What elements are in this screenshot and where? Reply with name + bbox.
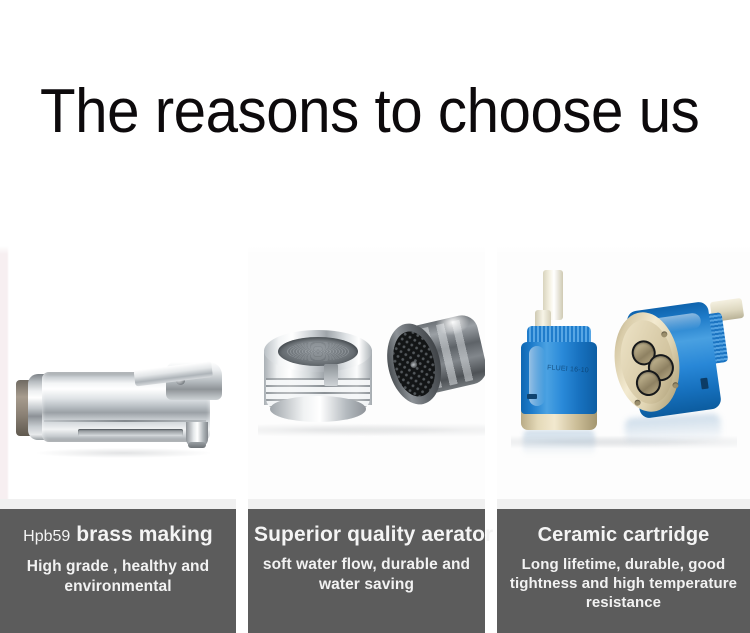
page-title: The reasons to choose us [40,76,698,148]
feature-image-ceramic-cartridge: FLUEI 16-10 [497,246,750,499]
aerator-housing-notch [324,364,338,386]
faucet-illustration [16,358,226,450]
cartridge-screw-hole-3 [634,399,641,406]
cartridge-upright-illustration: FLUEI 16-10 [517,270,599,430]
cartridge-tilted-reflection [624,414,721,447]
cartridge-tilted-illustration [615,294,743,434]
faucet-seam-line [44,420,206,422]
feature-card-brass-making: Hpb59 brass making High grade , healthy … [0,246,236,633]
cartridge-face-disc [615,317,678,407]
cartridge-upright-reflection [523,430,595,456]
feature-caption-ceramic-cartridge: Ceramic cartridge Long lifetime, durable… [497,509,750,633]
feature-caption-brass-making: Hpb59 brass making High grade , healthy … [0,509,236,633]
aerator-housing-illustration [264,330,372,426]
feature-subtitle-brass-making: High grade , healthy and environmental [6,557,230,597]
feature-subtitle-ceramic-cartridge: Long lifetime, durable, good tightness a… [503,555,744,612]
photo-top-fade [248,246,485,254]
feature-image-brass-making [0,246,236,499]
feature-card-aerator: Superior quality aerator soft water flow… [248,246,485,633]
feature-title-aerator: Superior quality aerator [254,522,479,548]
faucet-recessed-slot [78,429,183,436]
panel-divider-strip [248,499,485,509]
feature-title-ceramic-cartridge: Ceramic cartridge [503,522,744,548]
product-feature-banner: The reasons to choose us [0,0,750,633]
feature-card-ceramic-cartridge: FLUEI 16-10 [497,246,750,633]
aerator-housing-bore [278,337,358,366]
cartridge-screw-hole-1 [661,331,668,338]
feature-image-aerator [248,246,485,499]
feature-caption-aerator: Superior quality aerator soft water flow… [248,509,485,633]
feature-title-brass-making: Hpb59 brass making [6,522,230,550]
cartridge-upright-port [527,394,537,399]
photo-top-fade [497,246,750,254]
aerator-housing-bottom [270,396,366,422]
faucet-shadow [36,448,211,458]
feature-title-prefix: Hpb59 [23,528,70,545]
feature-title-main: brass making [76,523,213,546]
cartridge-tilted-port [700,378,708,390]
faucet-nozzle-ring [188,442,206,448]
feature-subtitle-aerator: soft water flow, durable and water savin… [254,555,479,595]
feature-row: Hpb59 brass making High grade , healthy … [0,246,750,633]
panel-divider-strip [0,499,236,509]
panel-divider-strip [497,499,750,509]
photo-top-fade [0,246,236,254]
